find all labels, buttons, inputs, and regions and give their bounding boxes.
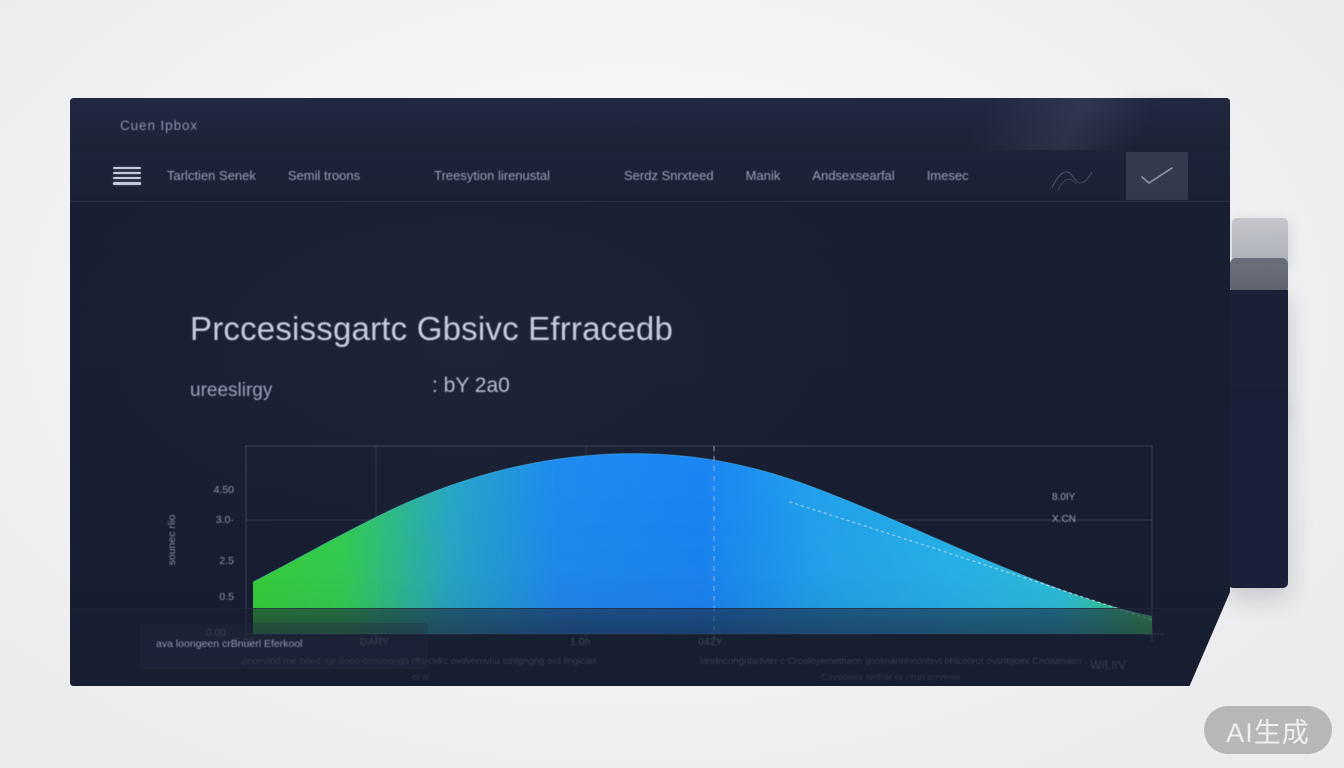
nav-check-tile[interactable] <box>1126 152 1188 200</box>
nav-item-1[interactable]: Semil troons <box>288 168 360 183</box>
y-tick-1: 3.0· <box>186 514 234 526</box>
footer-bar: ava loongeen crBnuerl Eferkool <box>70 608 1230 686</box>
subtitle-left: ureeslirgy <box>190 380 272 402</box>
subtitle-right: : bY 2a0 <box>432 374 510 398</box>
scribble-icon <box>1048 164 1102 194</box>
nav-item-0[interactable]: Tarlctien Senek <box>167 168 256 183</box>
nav-item-5[interactable]: Andsexsearfal <box>812 168 894 183</box>
check-icon <box>1140 166 1174 186</box>
ai-generated-watermark: AI生成 <box>1204 706 1332 754</box>
background-panel-right-tab-secondary <box>1230 258 1288 294</box>
title-bar-sheen <box>810 98 1230 150</box>
y-tick-3: 0.5 <box>186 591 234 603</box>
app-window: Cuen Ipbox Tarlctien Senek Semil troons … <box>70 98 1230 686</box>
nav-item-6[interactable]: Imesec <box>927 168 969 183</box>
page-title: Prccesissgartc Gbsivc Efrracedb <box>190 310 673 348</box>
window-title: Cuen Ipbox <box>120 118 198 133</box>
y-tick-0: 4.50 <box>186 484 234 496</box>
footer-card[interactable]: ava loongeen crBnuerl Eferkool <box>140 623 428 669</box>
nav-item-4[interactable]: Manik <box>746 168 781 183</box>
nav-item-3[interactable]: Serdz Snrxteed <box>624 168 714 183</box>
hamburger-menu-icon[interactable] <box>113 167 141 185</box>
background-panel-right-body-secondary <box>1228 402 1288 588</box>
content-area: Prccesissgartc Gbsivc Efrracedb ureeslir… <box>70 202 1230 686</box>
title-bar: Cuen Ipbox <box>70 98 1230 150</box>
footer-note: ava loongeen crBnuerl Eferkool <box>156 638 303 650</box>
annotation-right-upper: 8.0IY <box>1052 492 1075 503</box>
y-axis-title: sounec rlio <box>166 480 178 600</box>
y-tick-2: 2.5 <box>186 555 234 567</box>
navigation-bar: Tarlctien Senek Semil troons Treesytion … <box>70 150 1230 202</box>
nav-item-2[interactable]: Treesytion lirenustal <box>434 168 550 183</box>
annotation-right-lower: X.CN <box>1052 514 1076 525</box>
background-panel-right-body <box>1230 290 1288 412</box>
